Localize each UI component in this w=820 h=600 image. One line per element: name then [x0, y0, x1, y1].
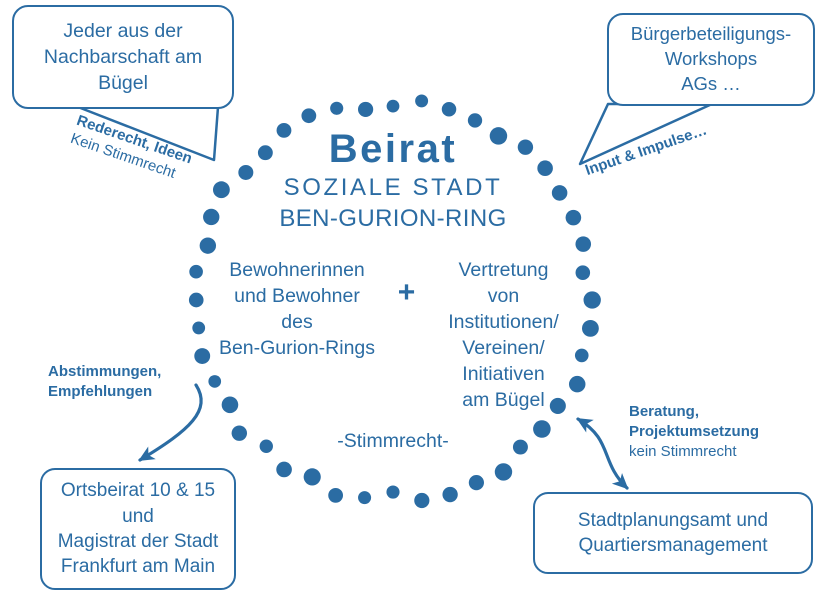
- label-abstimmungen-line2: Empfehlungen: [48, 382, 161, 402]
- bubble-neighbourhood-line1: Jeder aus der: [44, 18, 202, 44]
- box-ortsbeirat-line4: Frankfurt am Main: [58, 554, 219, 579]
- box-ortsbeirat: Ortsbeirat 10 & 15 und Magistrat der Sta…: [40, 468, 236, 590]
- label-abstimmungen: Abstimmungen, Empfehlungen: [48, 362, 161, 402]
- box-stadtplanungsamt: Stadtplanungsamt und Quartiersmanagement: [533, 492, 813, 574]
- label-beratung: Beratung, Projektumsetzung kein Stimmrec…: [629, 402, 759, 461]
- bubble-participation: Bürgerbeteiligungs- Workshops AGs …: [607, 13, 815, 106]
- box-ortsbeirat-line1: Ortsbeirat 10 & 15: [58, 478, 219, 503]
- box-ortsbeirat-line3: Magistrat der Stadt: [58, 529, 219, 554]
- box-stadtplanungsamt-line2: Quartiersmanagement: [578, 533, 768, 558]
- bubble-neighbourhood-line3: Bügel: [44, 70, 202, 96]
- label-beratung-line3: kein Stimmrecht: [629, 442, 759, 462]
- arrow-to-stadtplanungsamt: [578, 419, 627, 488]
- label-abstimmungen-line1: Abstimmungen,: [48, 362, 161, 382]
- diagram-canvas: Jeder aus der Nachbarschaft am Bügel Bür…: [0, 0, 820, 600]
- bubble-participation-line1: Bürgerbeteiligungs-: [631, 22, 791, 47]
- label-beratung-line1: Beratung,: [629, 402, 759, 422]
- label-beratung-line2: Projektumsetzung: [629, 422, 759, 442]
- bubble-participation-line2: Workshops: [631, 47, 791, 72]
- bubble-participation-line3: AGs …: [631, 72, 791, 97]
- box-ortsbeirat-line2: und: [58, 504, 219, 529]
- box-stadtplanungsamt-line1: Stadtplanungsamt und: [578, 508, 768, 533]
- bubble-neighbourhood: Jeder aus der Nachbarschaft am Bügel: [12, 5, 234, 109]
- bubble-neighbourhood-line2: Nachbarschaft am: [44, 44, 202, 70]
